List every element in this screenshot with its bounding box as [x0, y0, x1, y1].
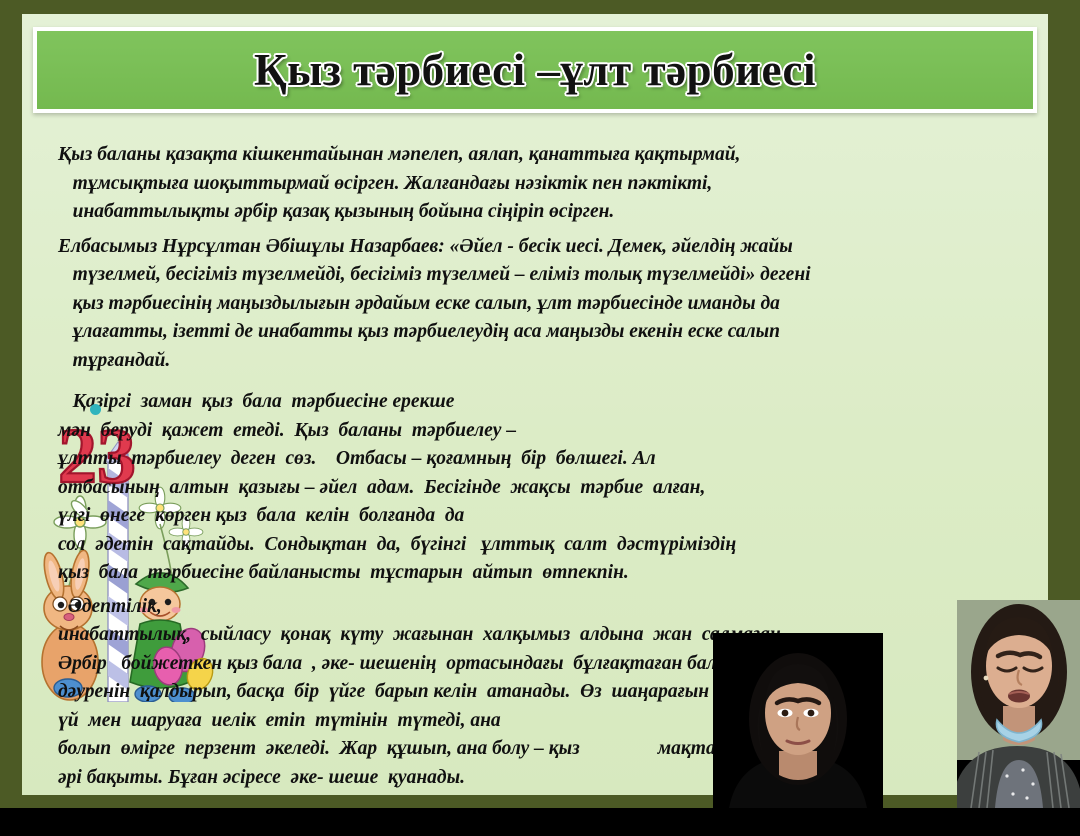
video-bottom-strip: [713, 808, 1080, 836]
text-line: үлгі өнеге көрген қыз бала келін болғанд…: [58, 502, 1038, 531]
text-line: әрі бақыты. Бұған әсіресе әке- шеше қуан…: [58, 764, 1038, 793]
text-line: Елбасымыз Нұрсұлтан Әбішұлы Назарбаев: «…: [58, 233, 1038, 262]
text-line: тұрғандай.: [58, 347, 1038, 376]
page-title: Қыз тәрбиесі –ұлт тәрбиесі: [254, 44, 816, 96]
text-line: ұлағатты, ізетті де инабатты қыз тәрбиел…: [58, 318, 1038, 347]
text-line: қыз тәрбиесінің маңыздылығын әрдайым еск…: [58, 290, 1038, 319]
video-participant-right[interactable]: [957, 600, 1080, 808]
text-line: сол әдетін сақтайды. Сондықтан да, бүгін…: [58, 531, 1038, 560]
paragraph-intro: Қыз баланы қазақта кішкентайынан мәпелеп…: [58, 126, 1038, 227]
slide-text-content: Қыз баланы қазақта кішкентайынан мәпелеп…: [58, 126, 1038, 793]
title-banner: Қыз тәрбиесі –ұлт тәрбиесі: [37, 31, 1033, 109]
slide-outer-border: Қыз тәрбиесі –ұлт тәрбиесі: [0, 0, 1080, 808]
video-participant-left[interactable]: [713, 633, 883, 808]
text-line: түзелмей, бесігіміз түзелмейді, бесігімі…: [58, 261, 1038, 290]
text-line: үй мен шаруаға иелік етіп түтінін түтеді…: [58, 707, 1038, 736]
text-line: Қазіргі заман қыз бала тәрбиесіне ерекше: [58, 388, 1038, 417]
paragraph-modern-upbringing: Қазіргі заман қыз бала тәрбиесіне ерекше…: [58, 376, 1038, 588]
text-line: Әдептілік,: [58, 593, 1038, 622]
screen: Қыз тәрбиесі –ұлт тәрбиесі: [0, 0, 1080, 836]
text-line: тұмсықтыға шоқыттырмай өсірген. Жалғанда…: [58, 170, 1038, 199]
text-line: Әрбір бойжеткен қыз бала , әке- шешенің …: [58, 650, 1038, 679]
text-line: қыз бала тәрбиесіне байланысты тұстарын …: [58, 559, 1038, 588]
bullet-icon: [90, 404, 101, 415]
text-line: мән беруді қажет етеді. Қыз баланы тәрби…: [58, 417, 1038, 446]
slide-body: Қыз тәрбиесі –ұлт тәрбиесі: [22, 14, 1048, 795]
text-line: болып өмірге перзент әкеледі. Жар құшып,…: [58, 735, 1038, 764]
text-line: инабаттылық, сыйласу қонақ күту жағынан …: [58, 621, 1038, 650]
text-line: дәуренін қалдырып, басқа бір үйге барып …: [58, 678, 1038, 707]
paragraph-decency: Әдептілік, инабаттылық, сыйласу қонақ кү…: [58, 589, 1038, 793]
text-line: Қыз баланы қазақта кішкентайынан мәпелеп…: [58, 141, 1038, 170]
paragraph-nazarbayev-quote: Елбасымыз Нұрсұлтан Әбішұлы Назарбаев: «…: [58, 228, 1038, 376]
title-banner-frame: Қыз тәрбиесі –ұлт тәрбиесі: [33, 27, 1037, 113]
text-line: ұлтты тәрбиелеу деген сөз. Отбасы – қоға…: [58, 445, 1038, 474]
text-line: инабаттылықты әрбір қазақ қызының бойына…: [58, 198, 1038, 227]
text-line: отбасының алтын қазығы – әйел адам. Бесі…: [58, 474, 1038, 503]
